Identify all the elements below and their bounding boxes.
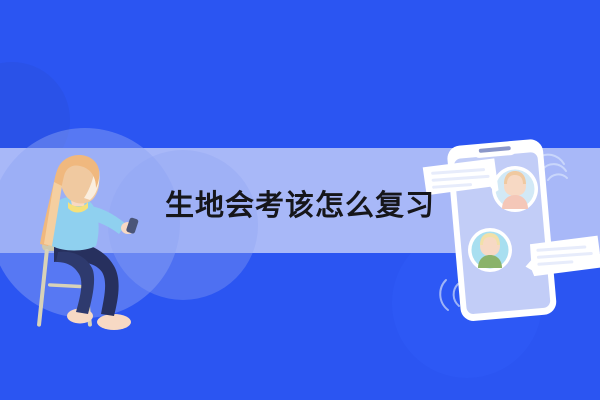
avatar-bottom <box>468 228 512 272</box>
banner-image: 生地会考该怎么复习 <box>0 0 600 400</box>
legs-icon <box>54 241 119 316</box>
signal-wave-bottom-icon <box>440 280 459 310</box>
page-title: 生地会考该怎么复习 <box>0 184 600 228</box>
person-sitting-illustration <box>18 150 168 335</box>
